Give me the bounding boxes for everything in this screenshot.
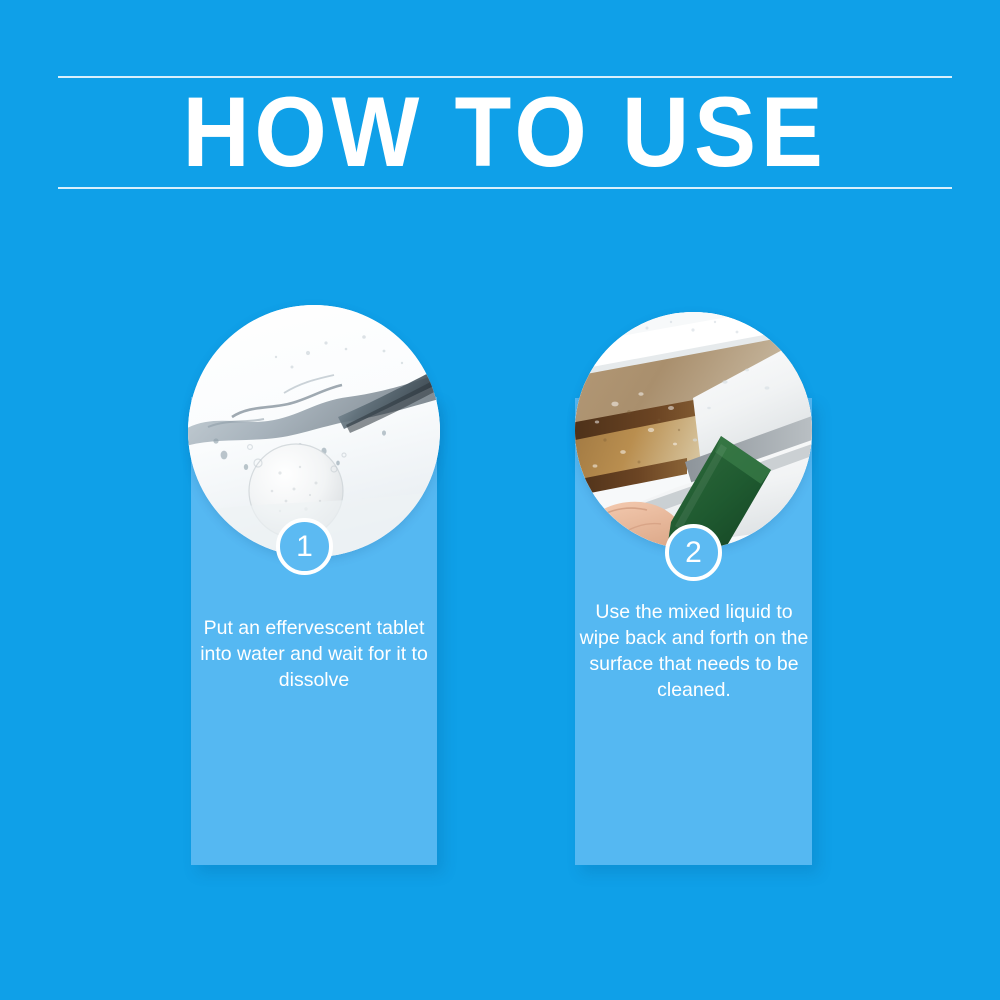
step-card-2: 2 Use the mixed liquid to wipe back and … bbox=[575, 312, 815, 865]
step-number-badge-1: 1 bbox=[276, 518, 333, 575]
step-caption-1: Put an effervescent tablet into water an… bbox=[196, 615, 432, 693]
step-number-badge-2: 2 bbox=[665, 524, 722, 581]
header: HOW TO USE bbox=[58, 70, 952, 194]
sponge-wiping-dirty-surface-photo bbox=[575, 312, 812, 549]
how-to-use-poster: HOW TO USE bbox=[0, 0, 1000, 1000]
page-title: HOW TO USE bbox=[85, 80, 925, 184]
title-rule-bottom bbox=[58, 187, 952, 189]
step-card-1: 1 Put an effervescent tablet into water … bbox=[188, 305, 440, 865]
step-caption-2: Use the mixed liquid to wipe back and fo… bbox=[579, 599, 809, 703]
